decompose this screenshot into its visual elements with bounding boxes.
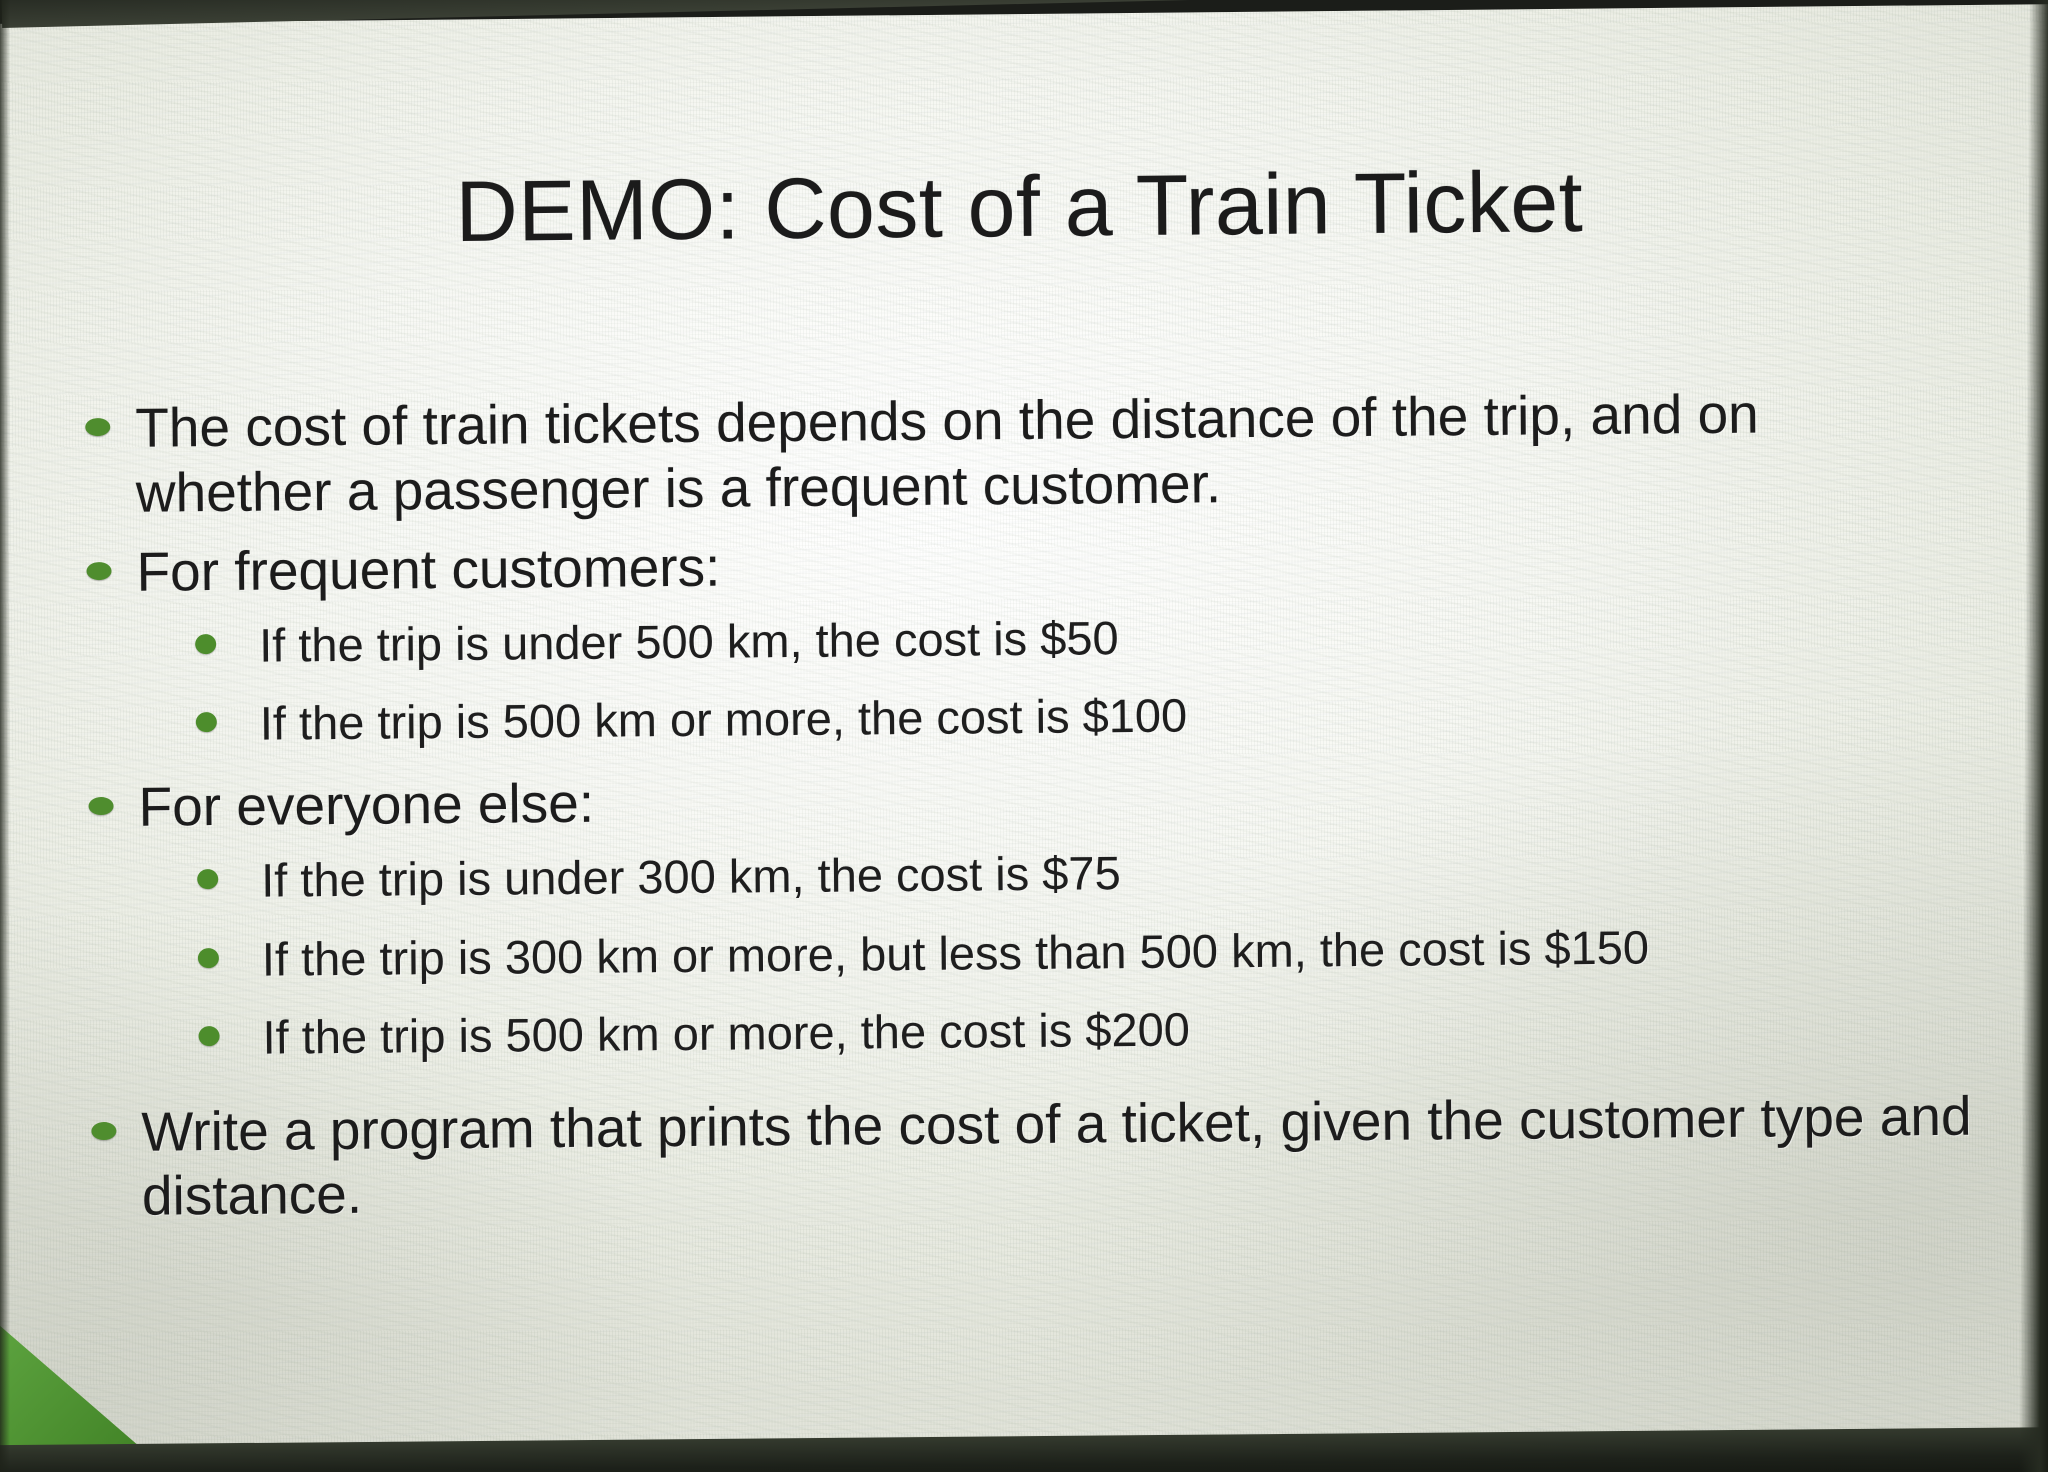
bullet-item-level1: For everyone else:	[70, 759, 1970, 840]
green-oval-bullet-icon	[85, 418, 110, 436]
green-dot-bullet-icon	[195, 634, 216, 654]
slide-title: DEMO: Cost of a Train Ticket	[0, 149, 2044, 266]
bullet-text: If the trip is under 300 km, the cost is…	[261, 847, 1121, 907]
bullet-text: If the trip is 500 km or more, the cost …	[262, 1003, 1190, 1064]
bullet-text: The cost of train tickets depends on the…	[135, 383, 1759, 524]
bullet-item-level1: The cost of train tickets depends on the…	[67, 380, 1968, 526]
bullet-text: If the trip is 300 km or more, but less …	[262, 920, 1650, 985]
bullet-text: For everyone else:	[138, 772, 594, 838]
green-dot-bullet-icon	[196, 712, 217, 732]
screen-bezel-left	[0, 0, 10, 1472]
green-oval-bullet-icon	[91, 1121, 116, 1139]
slide-content: DEMO: Cost of a Train Ticket The cost of…	[0, 0, 2048, 1472]
slide-photo-screenshot: DEMO: Cost of a Train Ticket The cost of…	[0, 0, 2048, 1472]
slide-body-bullet-list: The cost of train tickets depends on the…	[67, 380, 1974, 1244]
bullet-item-level1: For frequent customers:	[68, 524, 1968, 605]
bullet-item-level2: If the trip is 300 km or more, but less …	[72, 916, 1972, 989]
bullet-text: Write a program that prints the cost of …	[141, 1084, 1972, 1227]
bullet-item-level2: If the trip is 500 km or more, the cost …	[70, 681, 1970, 754]
bullet-text: If the trip is 500 km or more, the cost …	[260, 689, 1188, 750]
bullet-item-level2: If the trip is under 500 km, the cost is…	[69, 602, 1969, 675]
green-oval-bullet-icon	[86, 562, 111, 580]
green-dot-bullet-icon	[197, 869, 218, 889]
bullet-text: If the trip is under 500 km, the cost is…	[259, 611, 1119, 671]
bullet-text: For frequent customers:	[136, 535, 720, 602]
green-dot-bullet-icon	[199, 1026, 220, 1046]
bullet-item-level1: Write a program that prints the cost of …	[73, 1083, 1974, 1229]
green-dot-bullet-icon	[198, 948, 219, 968]
bullet-item-level2: If the trip is under 300 km, the cost is…	[71, 838, 1971, 911]
bullet-item-level2: If the trip is 500 km or more, the cost …	[72, 995, 1972, 1068]
green-oval-bullet-icon	[89, 797, 114, 815]
